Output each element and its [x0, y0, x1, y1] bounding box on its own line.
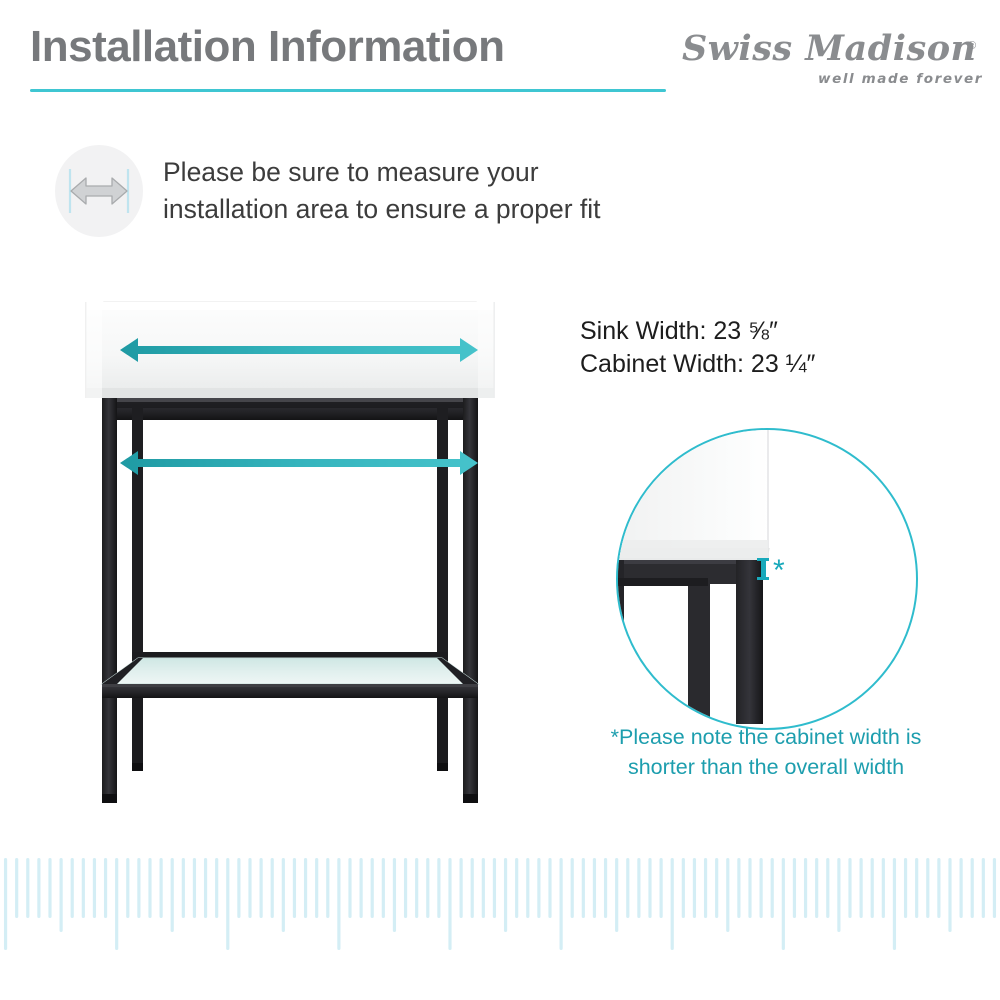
- ruler-major-tick: [115, 858, 118, 950]
- ruler-minor-tick: [515, 858, 518, 918]
- ruler-minor-tick: [848, 858, 851, 918]
- ruler-minor-tick: [348, 858, 351, 918]
- ruler-minor-tick: [393, 858, 396, 932]
- ruler-minor-tick: [715, 858, 718, 918]
- ruler-minor-tick: [460, 858, 463, 918]
- ruler-minor-tick: [371, 858, 374, 918]
- ruler-minor-tick: [37, 858, 40, 918]
- ruler-minor-tick: [482, 858, 485, 918]
- title-divider: [30, 89, 666, 92]
- ruler-minor-tick: [648, 858, 651, 918]
- ruler-minor-tick: [948, 858, 951, 932]
- brand-tagline: well made forever: [818, 71, 983, 87]
- ruler-minor-tick: [760, 858, 763, 918]
- ruler-minor-tick: [837, 858, 840, 932]
- cabinet-width-footnote: *Please note the cabinet width is shorte…: [566, 722, 966, 782]
- ruler-minor-tick: [637, 858, 640, 918]
- ruler-minor-tick: [926, 858, 929, 918]
- ruler-minor-tick: [960, 858, 963, 918]
- ruler-minor-tick: [937, 858, 940, 918]
- brand-name: Swiss Madison: [682, 28, 976, 69]
- footnote-line2: shorter than the overall width: [566, 752, 966, 782]
- ruler-minor-tick: [237, 858, 240, 918]
- ruler-minor-tick: [171, 858, 174, 932]
- ruler-minor-tick: [71, 858, 74, 918]
- measure-instruction-text: Please be sure to measure your installat…: [163, 154, 633, 228]
- ruler-major-tick: [671, 858, 674, 950]
- ruler-minor-tick: [826, 858, 829, 918]
- ruler-minor-tick: [771, 858, 774, 918]
- ruler-minor-tick: [626, 858, 629, 918]
- ruler-minor-tick: [493, 858, 496, 918]
- ruler-minor-tick: [548, 858, 551, 918]
- ruler-minor-tick: [804, 858, 807, 918]
- ruler-minor-tick: [137, 858, 140, 918]
- ruler-minor-tick: [726, 858, 729, 932]
- cabinet-width-arrow: [120, 451, 478, 475]
- footnote-line1: *Please note the cabinet width is: [566, 722, 966, 752]
- ruler-major-tick: [782, 858, 785, 950]
- ruler-minor-tick: [48, 858, 51, 918]
- detail-sink-corner: [618, 430, 770, 562]
- ruler-minor-tick: [793, 858, 796, 918]
- ruler-minor-tick: [426, 858, 429, 918]
- offset-asterisk-icon: *: [773, 554, 785, 587]
- ruler-minor-tick: [193, 858, 196, 918]
- measure-instruction-line2: installation area to ensure a proper fit: [163, 191, 633, 228]
- ruler-minor-tick: [148, 858, 151, 918]
- ruler-minor-tick: [204, 858, 207, 918]
- ruler-minor-tick: [15, 858, 18, 918]
- ruler-minor-tick: [660, 858, 663, 918]
- registered-trademark-icon: ®: [968, 40, 976, 52]
- ruler-major-tick: [560, 858, 563, 950]
- ruler-minor-tick: [160, 858, 163, 918]
- ruler-minor-tick: [815, 858, 818, 918]
- ruler-minor-tick: [882, 858, 885, 918]
- sink-width-text: Sink Width: 23 ⅝″: [580, 315, 960, 348]
- ruler-minor-tick: [26, 858, 29, 918]
- ruler-minor-tick: [282, 858, 285, 932]
- ruler-minor-tick: [604, 858, 607, 918]
- ruler-minor-tick: [971, 858, 974, 918]
- ruler-minor-tick: [304, 858, 307, 918]
- ruler-minor-tick: [871, 858, 874, 918]
- page-title: Installation Information: [30, 22, 504, 72]
- ruler-major-tick: [226, 858, 229, 950]
- ruler-minor-tick: [260, 858, 263, 918]
- ruler-minor-tick: [437, 858, 440, 918]
- ruler-minor-tick: [748, 858, 751, 918]
- dimensions-list: Sink Width: 23 ⅝″ Cabinet Width: 23 ¼″: [580, 315, 960, 381]
- ruler-minor-tick: [360, 858, 363, 918]
- ruler-minor-tick: [526, 858, 529, 918]
- ruler-major-tick: [448, 858, 451, 950]
- ruler-minor-tick: [682, 858, 685, 918]
- measure-instruction-line1: Please be sure to measure your: [163, 154, 633, 191]
- ruler-minor-tick: [93, 858, 96, 918]
- ruler-minor-tick: [382, 858, 385, 918]
- ruler-minor-tick: [271, 858, 274, 918]
- ruler-major-tick: [337, 858, 340, 950]
- ruler-minor-tick: [904, 858, 907, 918]
- ruler-minor-tick: [860, 858, 863, 918]
- ruler-minor-tick: [415, 858, 418, 918]
- double-arrow-measure-icon: [55, 145, 143, 237]
- ruler-minor-tick: [60, 858, 63, 932]
- ruler-minor-tick: [404, 858, 407, 918]
- ruler-minor-tick: [693, 858, 696, 918]
- ruler-minor-tick: [326, 858, 329, 918]
- cabinet-width-text: Cabinet Width: 23 ¼″: [580, 348, 960, 381]
- cabinet-frame: [102, 398, 478, 803]
- ruler-minor-tick: [82, 858, 85, 918]
- ruler-graphic: [0, 852, 1000, 962]
- ruler-minor-tick: [704, 858, 707, 918]
- ruler-minor-tick: [737, 858, 740, 918]
- installation-information-page: Installation Information Swiss Madison ®…: [0, 0, 1000, 1000]
- ruler-minor-tick: [915, 858, 918, 918]
- ruler-minor-tick: [104, 858, 107, 918]
- ruler-minor-tick: [537, 858, 540, 918]
- ruler-minor-tick: [182, 858, 185, 918]
- ruler-minor-tick: [126, 858, 129, 918]
- ruler-minor-tick: [982, 858, 985, 918]
- ruler-minor-tick: [215, 858, 218, 918]
- vanity-illustration: [60, 280, 520, 820]
- brand-logo: Swiss Madison ® well made forever: [682, 28, 982, 94]
- ruler-minor-tick: [471, 858, 474, 918]
- ruler-minor-tick: [248, 858, 251, 918]
- ruler-minor-tick: [993, 858, 996, 918]
- ruler-minor-tick: [315, 858, 318, 918]
- ruler-major-tick: [893, 858, 896, 950]
- ruler-minor-tick: [615, 858, 618, 932]
- ruler-minor-tick: [293, 858, 296, 918]
- detail-cabinet-frame: [618, 560, 763, 724]
- ruler-minor-tick: [504, 858, 507, 932]
- ruler-minor-tick: [571, 858, 574, 918]
- ruler-major-tick: [4, 858, 7, 950]
- cabinet-offset-detail-circle: *: [616, 428, 918, 730]
- ruler-minor-tick: [593, 858, 596, 918]
- ruler-minor-tick: [582, 858, 585, 918]
